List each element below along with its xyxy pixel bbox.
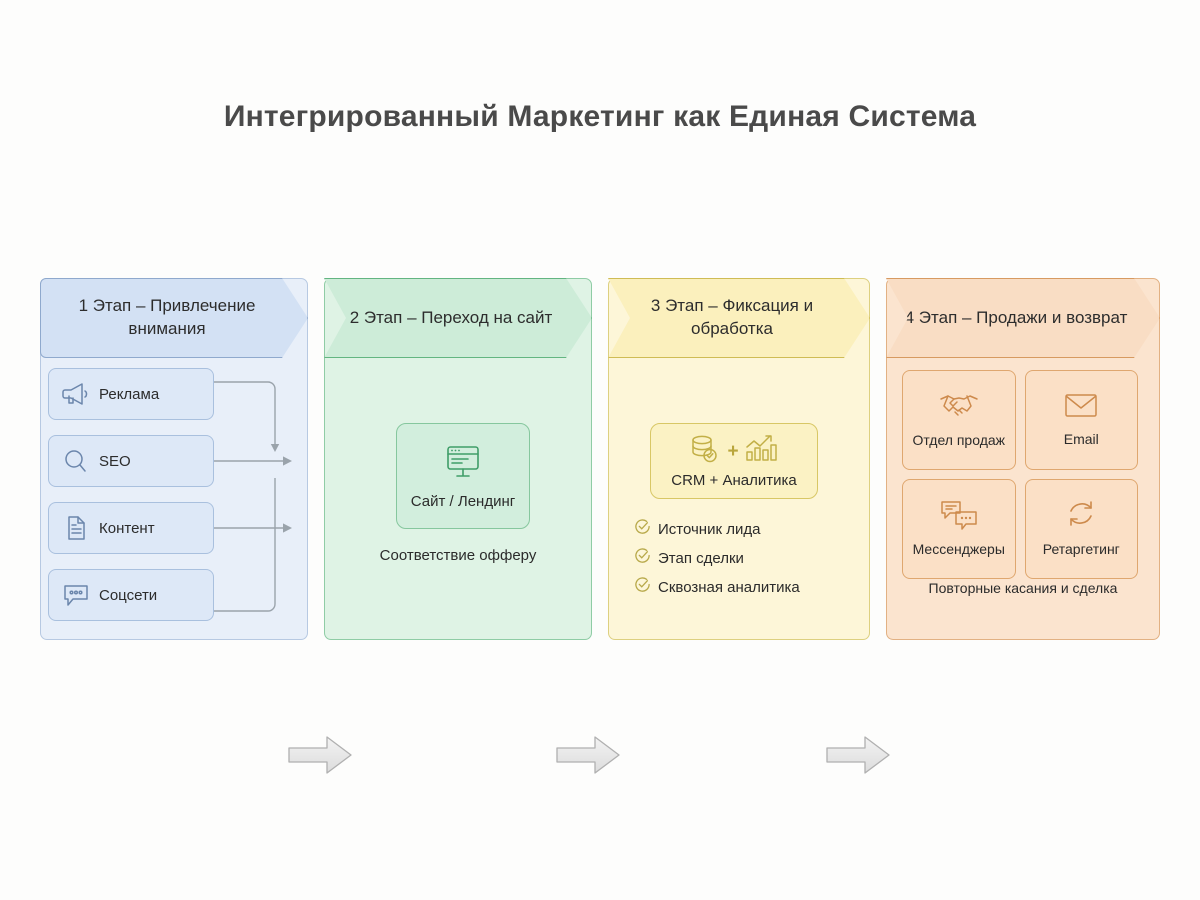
channel-chip-label: SEO xyxy=(99,453,131,470)
checklist-item-label: Сквозная аналитика xyxy=(658,579,800,596)
database-check-icon xyxy=(688,433,722,470)
channel-chip-reklama[interactable]: Реклама xyxy=(48,368,214,420)
channel-chip-kontent[interactable]: Контент xyxy=(48,502,214,554)
envelope-icon xyxy=(1061,391,1101,426)
stage-3-header: 3 Этап – Фиксация и обработка xyxy=(608,278,870,358)
stage-column-1: 1 Этап – Привлечение внимания Реклама xyxy=(40,278,308,640)
stage-column-4: 4 Этап – Продажи и возврат Отдел продаж xyxy=(886,278,1160,640)
arrow-stage3-to-stage4 xyxy=(826,733,890,777)
channel-chip-label: Контент xyxy=(99,520,155,537)
site-landing-label: Сайт / Лендинг xyxy=(411,492,515,512)
monitor-browser-icon xyxy=(440,441,486,488)
crm-analytics-card[interactable]: + CRM + Аналитика xyxy=(650,423,818,499)
channel-chip-socseti[interactable]: Соцсети xyxy=(48,569,214,621)
refresh-cycle-icon xyxy=(1063,499,1099,536)
stage-4-channel-grid: Отдел продаж Email xyxy=(902,370,1138,579)
sales-cell-otdel-prodazh[interactable]: Отдел продаж xyxy=(902,370,1016,470)
sales-cell-label: Email xyxy=(1064,431,1099,449)
channel-chip-label: Реклама xyxy=(99,386,159,403)
magnifier-icon xyxy=(59,446,93,476)
sales-cell-messengers[interactable]: Мессенджеры xyxy=(902,479,1016,579)
megaphone-icon xyxy=(59,379,93,409)
sales-cell-email[interactable]: Email xyxy=(1025,370,1139,470)
messages-icon xyxy=(938,499,980,536)
crm-analytics-icon-group: + xyxy=(688,433,779,470)
check-circle-icon xyxy=(634,547,651,569)
checklist-item-label: Этап сделки xyxy=(658,550,744,567)
arrow-stage1-to-stage2 xyxy=(288,733,352,777)
handshake-icon xyxy=(937,390,981,427)
stage-column-3: 3 Этап – Фиксация и обработка + xyxy=(608,278,870,640)
stage-1-channel-list: Реклама SEO xyxy=(48,368,214,636)
channel-chip-seo[interactable]: SEO xyxy=(48,435,214,487)
stage-flow-board: 1 Этап – Привлечение внимания Реклама xyxy=(40,278,1160,640)
sales-cell-retargeting[interactable]: Ретаргетинг xyxy=(1025,479,1139,579)
stage-4-caption: Повторные касания и сделка xyxy=(886,580,1160,596)
checklist-item: Этап сделки xyxy=(634,547,844,569)
crm-analytics-label: CRM + Аналитика xyxy=(671,472,797,489)
stage-2-header: 2 Этап – Переход на сайт xyxy=(324,278,592,358)
sales-cell-label: Отдел продаж xyxy=(912,432,1005,450)
stage-1-header: 1 Этап – Привлечение внимания xyxy=(40,278,308,358)
channel-chip-label: Соцсети xyxy=(99,587,157,604)
plus-sign: + xyxy=(727,441,738,463)
check-circle-icon xyxy=(634,518,651,540)
checklist-item: Источник лида xyxy=(634,518,844,540)
chat-bubble-icon xyxy=(59,580,93,610)
stage-column-2: 2 Этап – Переход на сайт Сайт / Лендинг xyxy=(324,278,592,640)
stage-3-checklist: Источник лида Этап сделки xyxy=(634,518,844,605)
stage-2-caption: Соответствие офферу xyxy=(324,546,592,566)
bar-chart-trend-icon xyxy=(744,433,780,470)
stage-4-header: 4 Этап – Продажи и возврат xyxy=(886,278,1160,358)
page-title: Интегрированный Маркетинг как Единая Сис… xyxy=(0,100,1200,134)
check-circle-icon xyxy=(634,576,651,598)
checklist-item: Сквозная аналитика xyxy=(634,576,844,598)
sales-cell-label: Мессенджеры xyxy=(913,541,1005,559)
arrow-stage2-to-stage3 xyxy=(556,733,620,777)
stage-1-connector-lines xyxy=(214,368,306,630)
checklist-item-label: Источник лида xyxy=(658,521,760,538)
site-landing-card[interactable]: Сайт / Лендинг xyxy=(396,423,530,529)
sales-cell-label: Ретаргетинг xyxy=(1043,541,1120,559)
document-icon xyxy=(59,513,93,543)
